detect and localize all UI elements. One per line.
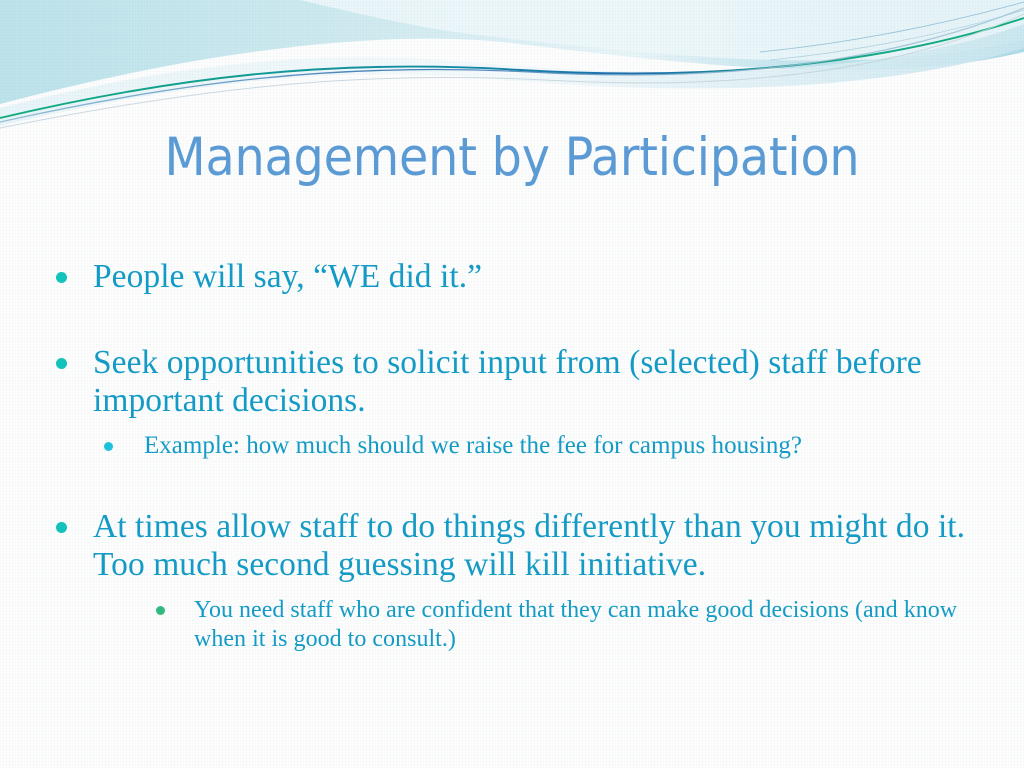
slide-body: People will say, “WE did it.” Seek oppor… — [46, 258, 998, 653]
spacer — [46, 584, 998, 596]
slide-title-text: Management by Participation — [165, 131, 860, 185]
bullet-text: Seek opportunities to solicit input from… — [93, 344, 998, 420]
spacer — [46, 296, 998, 344]
bullet-item-level1: People will say, “WE did it.” — [46, 258, 998, 296]
bullet-dot-icon — [56, 358, 67, 369]
bullet-text: At times allow staff to do things differ… — [93, 508, 998, 584]
spacer — [46, 420, 998, 432]
bullet-dot-icon — [104, 442, 113, 451]
bullet-text: You need staff who are confident that th… — [194, 596, 998, 654]
bullet-dot-icon — [56, 272, 67, 283]
bullet-item-level3: You need staff who are confident that th… — [46, 596, 998, 654]
bullet-item-level1: Seek opportunities to solicit input from… — [46, 344, 998, 420]
bullet-text: People will say, “WE did it.” — [93, 258, 998, 296]
bullet-dot-icon — [156, 606, 165, 615]
bullet-text: Example: how much should we raise the fe… — [144, 432, 998, 461]
bullet-item-level2: Example: how much should we raise the fe… — [46, 432, 998, 461]
bullet-item-level1: At times allow staff to do things differ… — [46, 508, 998, 584]
header-swoosh-decoration — [0, 0, 1024, 135]
spacer — [46, 460, 998, 508]
bullet-dot-icon — [56, 522, 67, 533]
slide-title: Management by Participation — [0, 131, 1024, 185]
presentation-slide: Management by Participation People will … — [0, 0, 1024, 768]
